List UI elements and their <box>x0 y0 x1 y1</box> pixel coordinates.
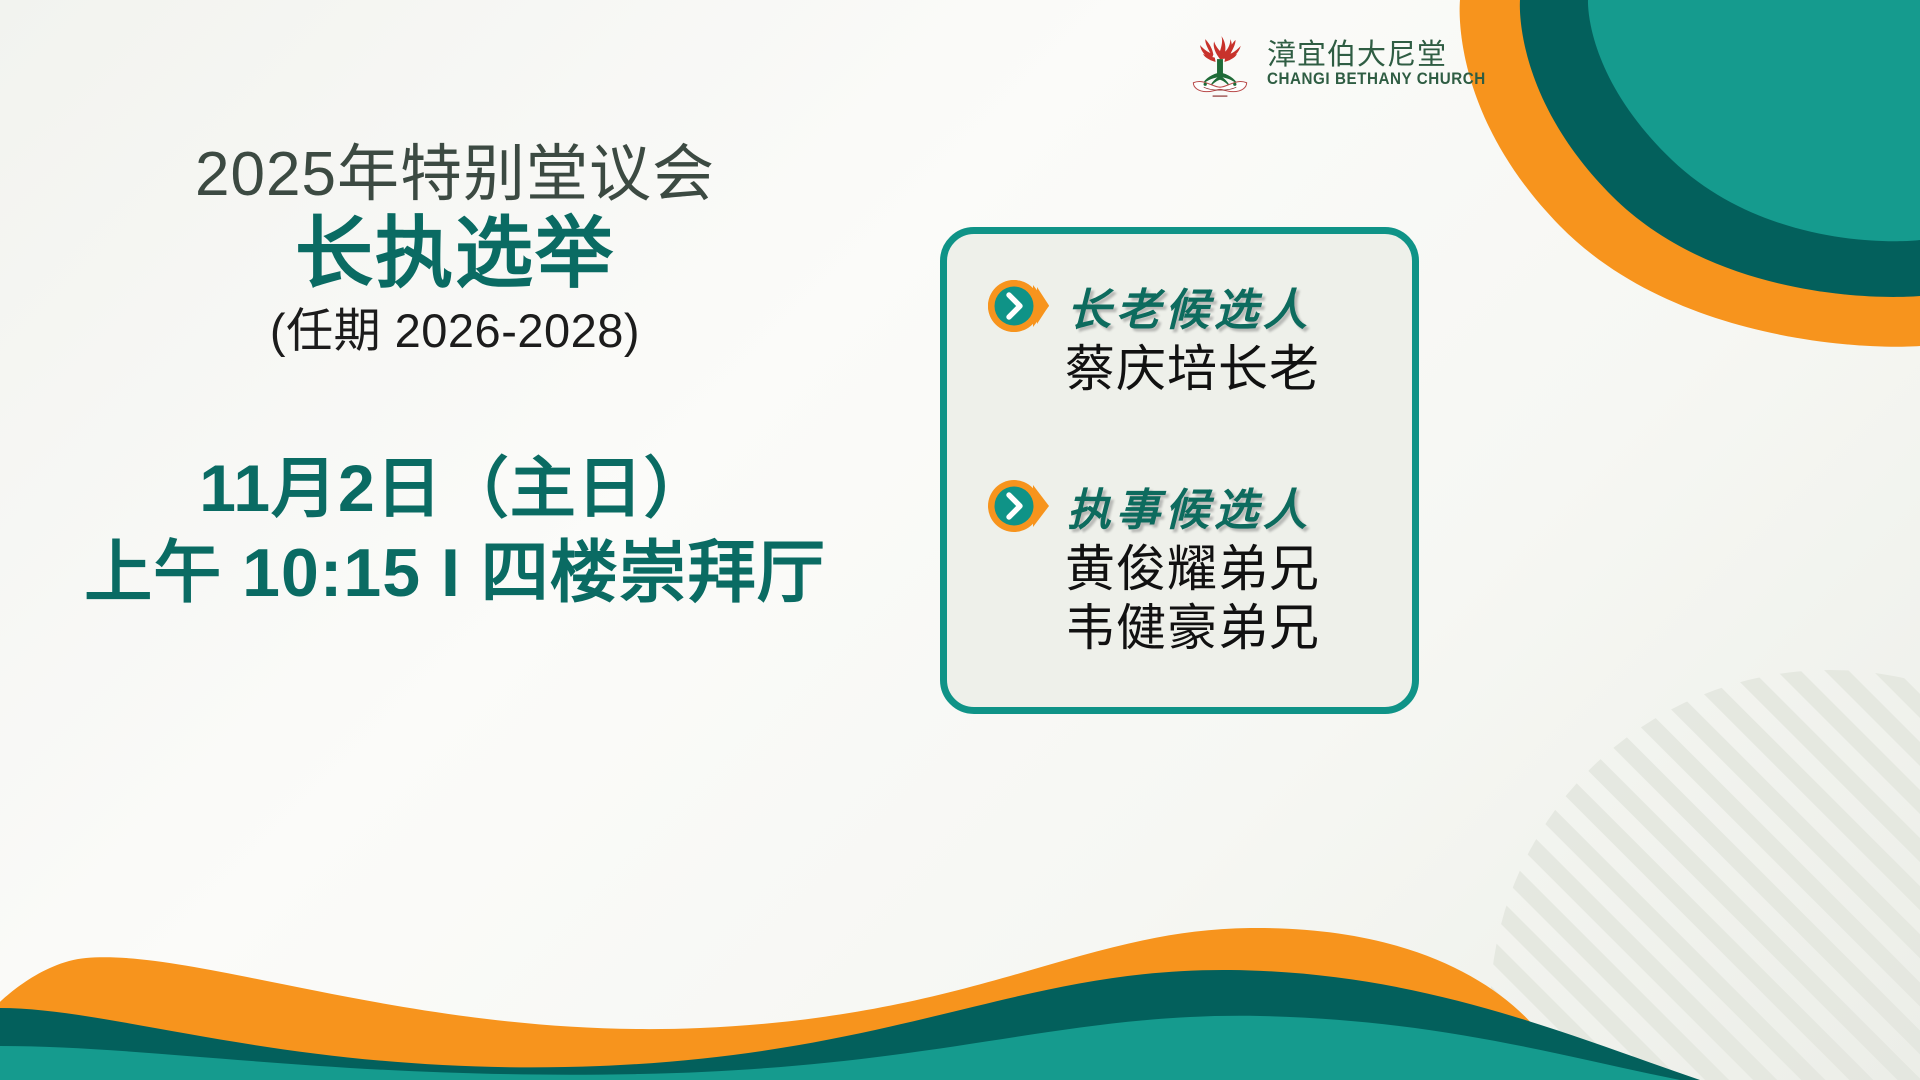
bottom-light-teal-wave <box>0 1016 1680 1080</box>
elder-candidates-group: 长老候选人 蔡庆培长老 <box>947 274 1412 399</box>
deacon-candidates-title: 执事候选人 <box>1067 474 1312 538</box>
candidate-name: 黄俊耀弟兄 <box>973 540 1412 599</box>
logo-name-cn: 漳宜伯大尼堂 <box>1267 40 1505 70</box>
headline-term-line: (任期 2026-2028) <box>0 303 910 359</box>
burning-bush-tree-logo-icon <box>1183 28 1257 102</box>
chevron-right-teardrop-icon <box>985 477 1051 535</box>
event-details: 11月2日（主日） 上午 10:15 I 四楼崇拜厅 <box>0 446 910 618</box>
elder-candidates-title: 长老候选人 <box>1067 274 1312 338</box>
candidate-name: 蔡庆培长老 <box>973 340 1412 399</box>
elder-candidates-header: 长老候选人 <box>947 274 1412 338</box>
striped-circle-decoration <box>1450 620 1920 1080</box>
headline-main-title: 长执选举 <box>0 211 910 297</box>
slide-canvas: 漳宜伯大尼堂 CHANGI BETHANY CHURCH 2025年特别堂议会 … <box>0 0 1920 1080</box>
bottom-dark-teal-wave <box>0 970 1700 1080</box>
top-right-light-teal-curve <box>1588 0 1920 241</box>
elder-candidate-names: 蔡庆培长老 <box>947 340 1412 399</box>
deacon-candidates-header: 执事候选人 <box>947 474 1412 538</box>
event-date: 11月2日（主日） <box>0 446 910 530</box>
deacon-candidate-names: 黄俊耀弟兄 韦健豪弟兄 <box>947 540 1412 657</box>
headline-block: 2025年特别堂议会 长执选举 (任期 2026-2028) 11月2日（主日）… <box>0 140 910 617</box>
chevron-right-teardrop-icon <box>985 277 1051 335</box>
logo-wordmark: 漳宜伯大尼堂 CHANGI BETHANY CHURCH <box>1267 40 1505 90</box>
candidates-card: 长老候选人 蔡庆培长老 执事候选人 黄俊耀弟兄 韦健豪弟兄 <box>940 227 1419 714</box>
bottom-orange-wave <box>0 928 1560 1080</box>
top-right-dark-teal-curve <box>1520 0 1920 297</box>
event-time-venue: 上午 10:15 I 四楼崇拜厅 <box>0 530 910 617</box>
headline-year-line: 2025年特别堂议会 <box>0 140 910 209</box>
deacon-candidates-group: 执事候选人 黄俊耀弟兄 韦健豪弟兄 <box>947 474 1412 657</box>
logo-name-en: CHANGI BETHANY CHURCH <box>1267 70 1486 90</box>
church-logo: 漳宜伯大尼堂 CHANGI BETHANY CHURCH <box>1183 26 1453 104</box>
candidate-name: 韦健豪弟兄 <box>973 599 1412 658</box>
top-right-orange-curve <box>1460 0 1920 347</box>
